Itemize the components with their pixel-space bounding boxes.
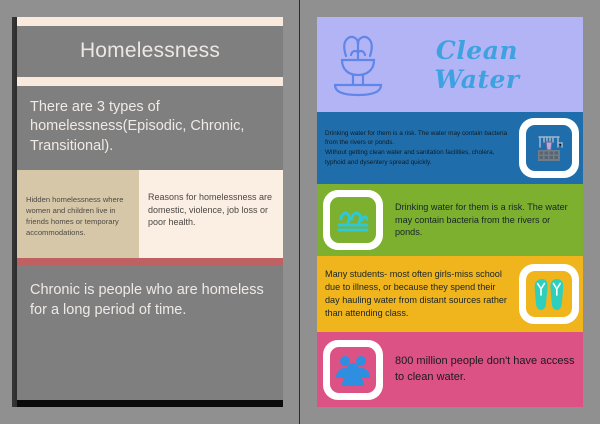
homelessness-title-band: Homelessness [17,26,283,77]
homelessness-poster-panel: Homelessness There are 3 types of homele… [0,0,300,424]
page-title: Homelessness [17,39,283,62]
group-of-people-badge [323,340,383,400]
waves-badge [323,190,383,250]
homelessness-two-column-block: Hidden homelessness where women and chil… [17,170,283,258]
flip-flops-badge [519,264,579,324]
group-of-people-icon [330,347,376,393]
reasons-for-homelessness-card: Reasons for homelessness are domestic, v… [139,170,283,258]
waves-icon [330,197,376,243]
hidden-homelessness-card: Hidden homelessness where women and chil… [17,170,139,258]
row-water-risk-blue: Drinking water for them is a risk. The w… [317,112,583,184]
clean-water-poster-panel: Clean Water Drinking water for them is a… [300,0,600,424]
bottom-black-bar [17,400,283,407]
flip-flops-icon [526,271,572,317]
water-well-badge [519,118,579,178]
row-access-pink: 800 million people don't have access to … [317,332,583,407]
homelessness-sheet: Homelessness There are 3 types of homele… [17,17,283,407]
fountain-icon [327,32,389,98]
row-pink-text: 800 million people don't have access to … [395,354,575,384]
red-divider-bar [17,258,283,265]
row-blue-text: Drinking water for them is a risk. The w… [325,129,510,167]
infographic-pair: Homelessness There are 3 types of homele… [0,0,600,424]
homelessness-lead-text: There are 3 types of homelessness(Episod… [17,86,283,170]
clean-water-title: Clean Water [389,36,571,94]
second-cream-stripe [17,77,283,86]
chronic-homelessness-text: Chronic is people who are homeless for a… [30,281,270,320]
clean-water-header: Clean Water [317,17,583,112]
clean-water-sheet: Clean Water Drinking water for them is a… [317,17,583,407]
row-green-text: Drinking water for them is a risk. The w… [395,201,575,240]
top-cream-stripe [17,17,283,26]
row-students-yellow: Many students- most often girls-miss sch… [317,256,583,332]
row-water-risk-green: Drinking water for them is a risk. The w… [317,184,583,256]
row-yellow-text: Many students- most often girls-miss sch… [325,268,507,320]
water-well-icon [526,125,572,171]
homelessness-footer-block: Chronic is people who are homeless for a… [17,265,283,407]
